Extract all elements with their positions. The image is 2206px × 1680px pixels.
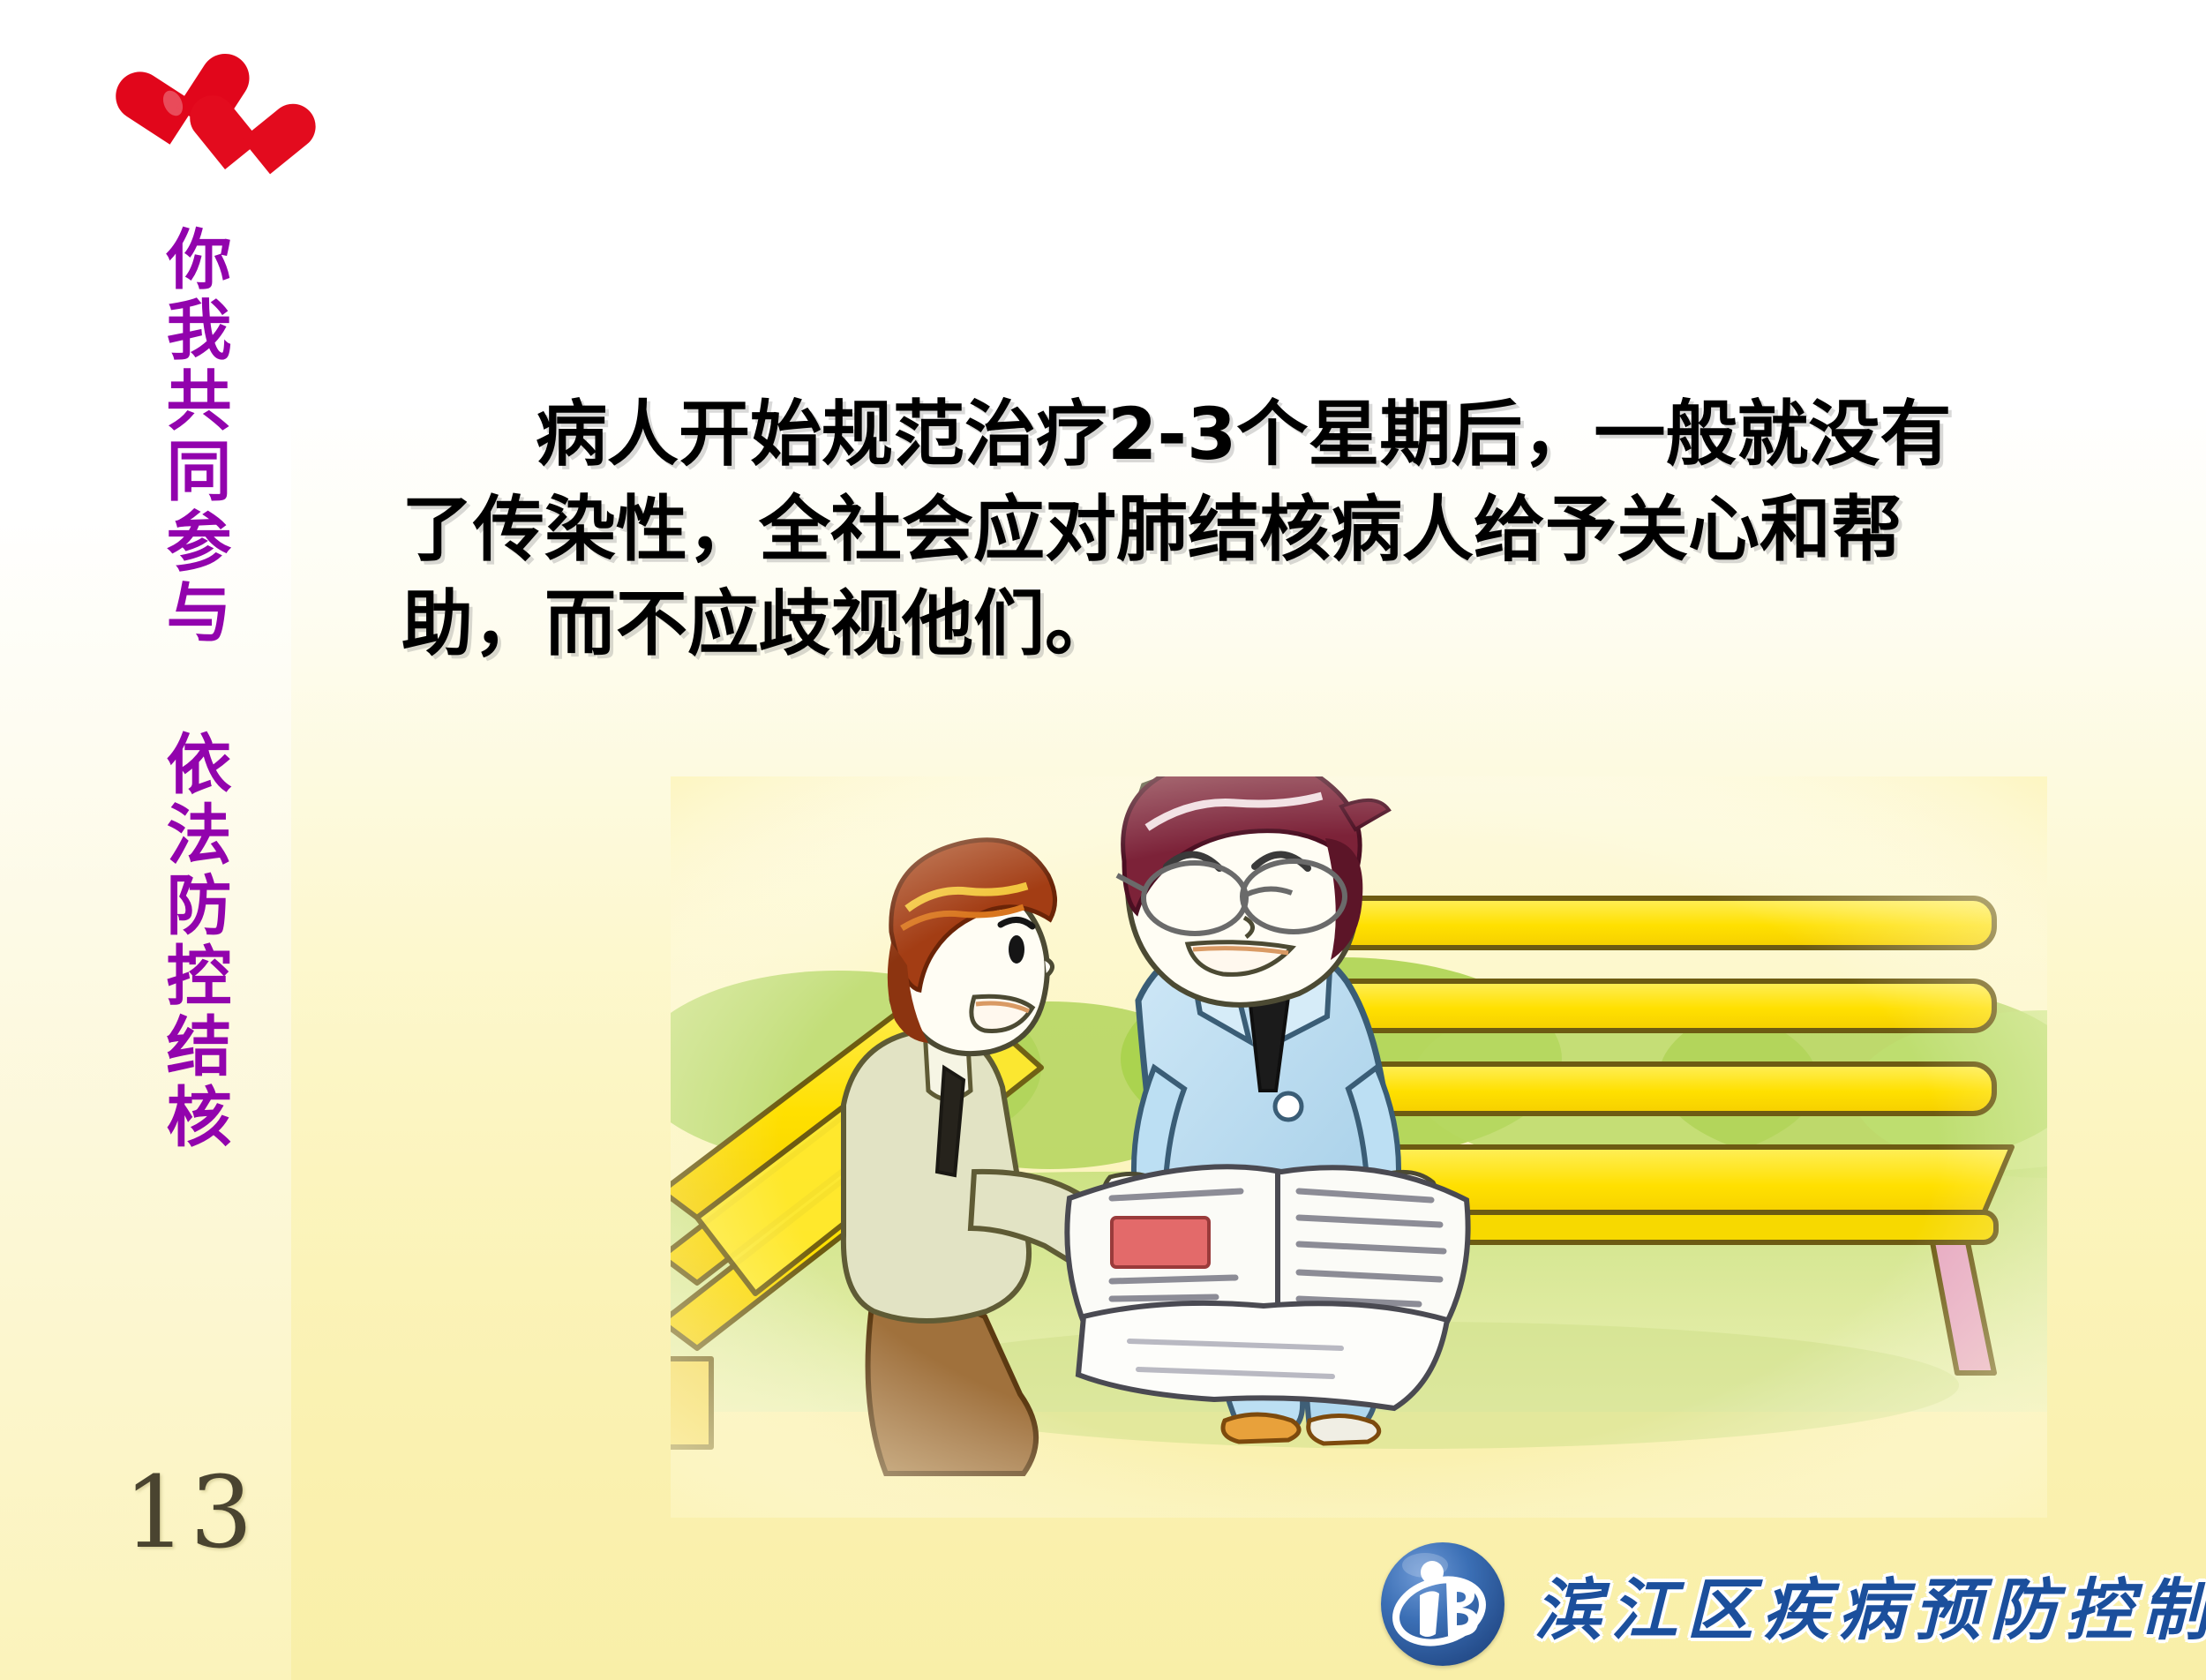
two-hearts-icon xyxy=(132,53,344,194)
cdc-logo-icon xyxy=(1381,1542,1504,1666)
illustration-park-bench-scene xyxy=(671,776,2047,1518)
vertical-slogan: 你我共同参与 依法防控结核 xyxy=(122,225,228,1153)
newspaper xyxy=(1067,1166,1467,1408)
page-number: 13 xyxy=(124,1456,257,1571)
heart-icon-front xyxy=(199,94,288,182)
slide-canvas: 你我共同参与 依法防控结核 病人开始规范治疗2-3个星期后，一般就没有了传染性，… xyxy=(0,0,2206,1680)
body-paragraph: 病人开始规范治疗2-3个星期后，一般就没有了传染性，全社会应对肺结核病人给予关心… xyxy=(401,388,1955,673)
footer-brand: 滨江区疾病预防控制中心 xyxy=(1381,1542,2206,1666)
organization-name: 滨江区疾病预防控制中心 xyxy=(1534,1556,2206,1653)
